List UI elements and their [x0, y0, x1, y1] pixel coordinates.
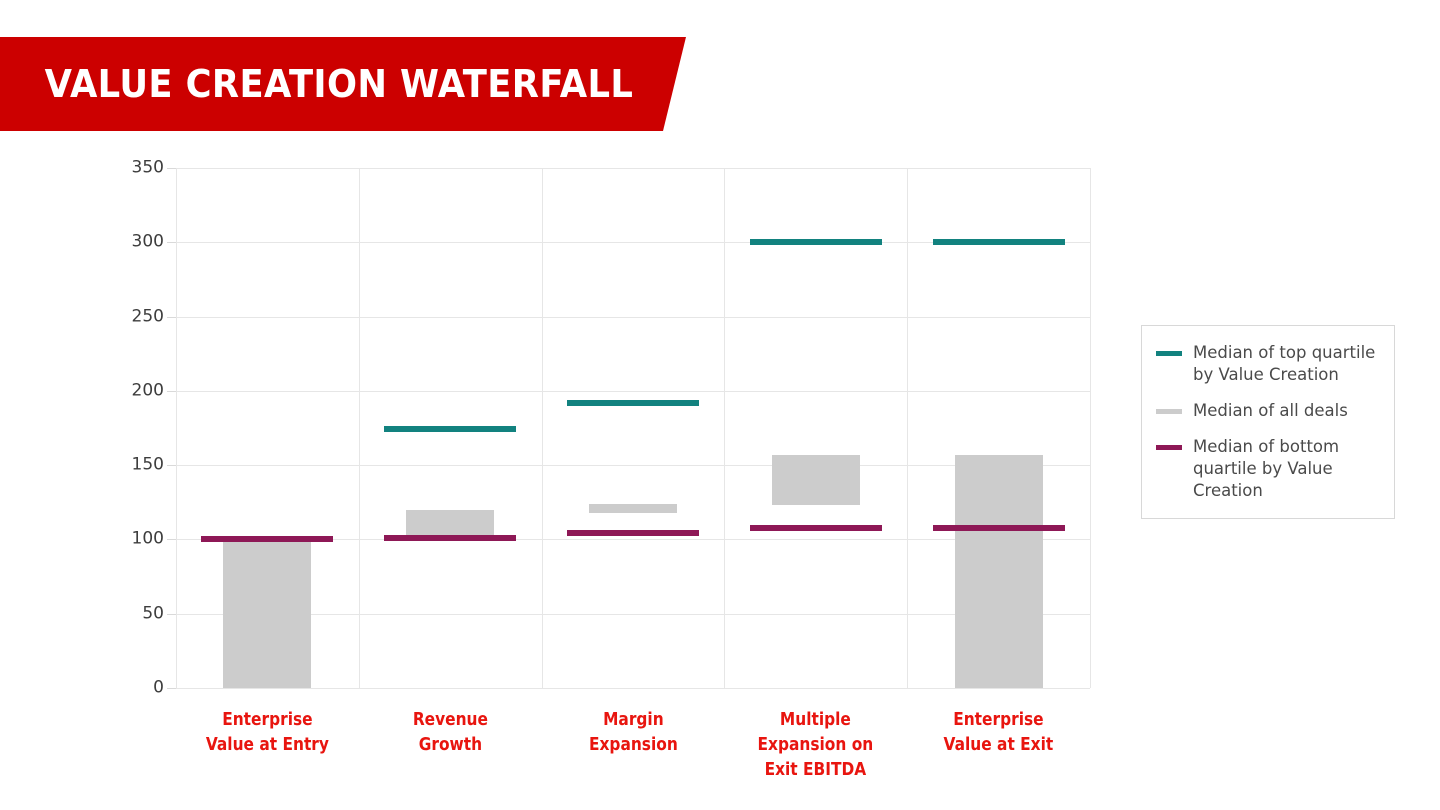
y-axis-tick-mark	[167, 614, 176, 615]
legend-label-all-deals: Median of all deals	[1193, 400, 1348, 422]
marker-bottom-quartile	[567, 530, 699, 536]
gridline-vertical	[359, 168, 360, 688]
marker-bottom-quartile	[384, 535, 516, 541]
x-axis-tick-label: RevenueGrowth	[370, 708, 531, 758]
x-axis-tick-label: MultipleExpansion onExit EBITDA	[735, 708, 896, 783]
gridline-horizontal	[176, 317, 1090, 318]
x-axis-tick-label-line: Multiple	[780, 710, 851, 730]
y-axis-tick-label: 0	[108, 680, 164, 697]
x-axis-tick-label-line: Margin	[603, 710, 664, 730]
gridline-vertical	[724, 168, 725, 688]
y-axis-tick-mark	[167, 688, 176, 689]
chart-legend: Median of top quartile by Value Creation…	[1141, 325, 1395, 519]
plot-area: 350300250200150100500	[176, 168, 1090, 688]
legend-swatch-magenta-icon	[1156, 445, 1182, 450]
legend-label-bottom-quartile: Median of bottom quartile by Value Creat…	[1193, 436, 1380, 502]
y-axis-tick-mark	[167, 539, 176, 540]
y-axis-tick-label: 300	[108, 234, 164, 251]
y-axis-tick-label: 200	[108, 382, 164, 399]
x-axis-tick-label-line: Expansion on	[758, 735, 874, 755]
x-axis-tick-label-line: Growth	[419, 735, 482, 755]
marker-top-quartile	[933, 239, 1065, 245]
bar-all-deals	[772, 455, 860, 506]
y-axis-tick-mark	[167, 317, 176, 318]
y-axis-tick-mark	[167, 168, 176, 169]
x-axis-tick-label: EnterpriseValue at Exit	[918, 708, 1079, 758]
x-axis-tick-label-line: Expansion	[589, 735, 678, 755]
marker-top-quartile	[384, 426, 516, 432]
y-axis-tick-label: 350	[108, 160, 164, 177]
gridline-horizontal	[176, 168, 1090, 169]
y-axis-tick-label: 250	[108, 308, 164, 325]
gridline-horizontal	[176, 688, 1090, 689]
bar-all-deals	[589, 504, 677, 513]
y-axis-tick-label: 100	[108, 531, 164, 548]
y-axis-tick-label: 50	[108, 605, 164, 622]
gridline-horizontal	[176, 614, 1090, 615]
x-axis-tick-label-line: Revenue	[413, 710, 488, 730]
marker-bottom-quartile	[750, 525, 882, 531]
legend-item-all-deals: Median of all deals	[1156, 400, 1380, 422]
x-axis-tick-label-line: Exit EBITDA	[765, 760, 867, 780]
gridline-vertical	[176, 168, 177, 688]
y-axis-tick-mark	[167, 242, 176, 243]
x-axis-tick-label-line: Enterprise	[222, 710, 312, 730]
x-axis-tick-label: MarginExpansion	[553, 708, 714, 758]
legend-swatch-gray-icon	[1156, 409, 1182, 414]
y-axis-tick-label: 150	[108, 457, 164, 474]
marker-top-quartile	[567, 400, 699, 406]
marker-top-quartile	[750, 239, 882, 245]
bar-all-deals	[406, 510, 494, 538]
legend-swatch-teal-icon	[1156, 351, 1182, 356]
gridline-vertical	[1090, 168, 1091, 688]
legend-item-top-quartile: Median of top quartile by Value Creation	[1156, 342, 1380, 386]
gridline-vertical	[542, 168, 543, 688]
bar-all-deals	[955, 455, 1043, 688]
bar-all-deals	[223, 539, 311, 688]
gridline-horizontal	[176, 391, 1090, 392]
x-axis-tick-label-line: Enterprise	[953, 710, 1043, 730]
y-axis-tick-mark	[167, 391, 176, 392]
x-axis-tick-label-line: Value at Entry	[206, 735, 329, 755]
legend-item-bottom-quartile: Median of bottom quartile by Value Creat…	[1156, 436, 1380, 502]
marker-bottom-quartile	[933, 525, 1065, 531]
x-axis-tick-label-line: Value at Exit	[944, 735, 1054, 755]
legend-label-top-quartile: Median of top quartile by Value Creation	[1193, 342, 1380, 386]
x-axis-tick-label: EnterpriseValue at Entry	[187, 708, 348, 758]
gridline-vertical	[907, 168, 908, 688]
marker-bottom-quartile	[201, 536, 333, 542]
gridline-horizontal	[176, 465, 1090, 466]
y-axis-tick-mark	[167, 465, 176, 466]
